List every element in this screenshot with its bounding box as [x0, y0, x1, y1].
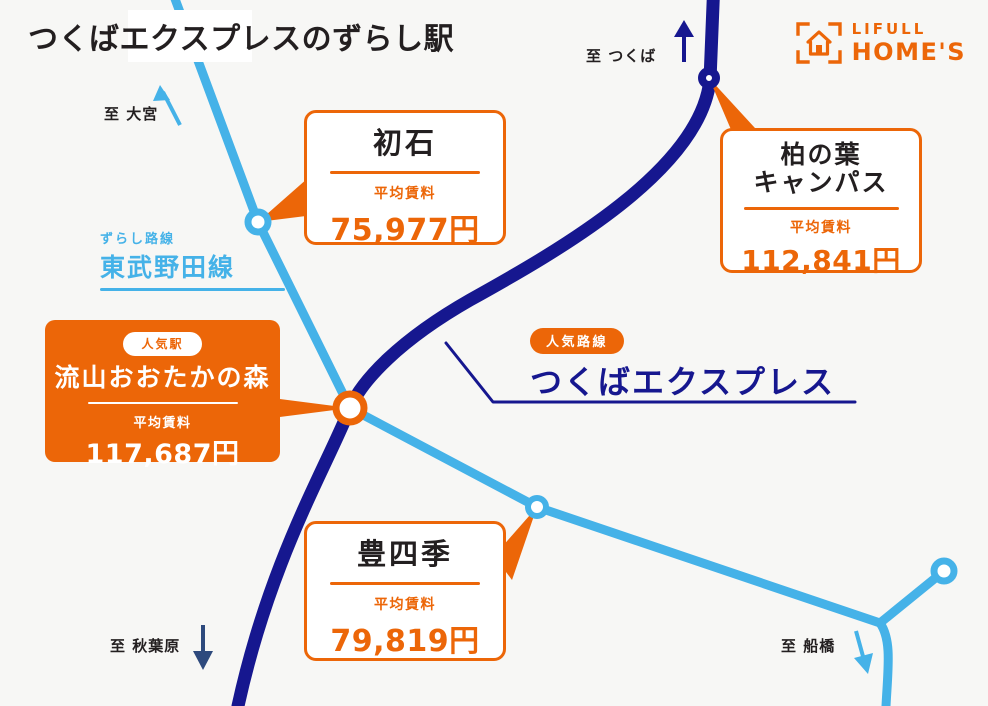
line-name-tobu: 東武野田線	[100, 248, 290, 284]
station-node-kashiwanoha[interactable]	[702, 71, 716, 85]
brand-line-1: LIFULL	[852, 22, 966, 37]
card-divider	[88, 402, 238, 404]
rent-label-nagareyama: 平均賃料	[45, 412, 280, 431]
line-name-tx: つくばエクスプレス	[530, 357, 835, 403]
station-badge-popular: 人気駅	[123, 332, 201, 356]
arrow-up-icon	[674, 20, 694, 62]
direction-label-akihabara: 至 秋葉原	[110, 635, 180, 656]
card-divider	[330, 171, 480, 174]
page-title: つくばエクスプレスのずらし駅	[28, 18, 454, 62]
direction-label-tsukuba: 至 つくば	[586, 45, 656, 66]
page-title-wrap: つくばエクスプレスのずらし駅	[28, 18, 454, 62]
rent-value-hatsuishi: 75,977円	[307, 205, 503, 249]
rent-label-kashiwanoha: 平均賃料	[723, 217, 919, 237]
card-divider	[744, 207, 899, 210]
rent-value-nagareyama: 117,687円	[45, 432, 280, 471]
station-node-nagareyama[interactable]	[336, 394, 364, 422]
station-card-toyoshiki[interactable]: 豊四季 平均賃料 79,819円	[304, 521, 506, 661]
arrow-down-icon-funabashi	[854, 631, 873, 674]
station-node-toyoshiki[interactable]	[528, 498, 546, 516]
tobu-noda-line-path	[168, 0, 944, 623]
station-card-nagareyama[interactable]: 人気駅 流山おおたかの森 平均賃料 117,687円	[45, 320, 280, 462]
brand-line-2: HOME'S	[852, 40, 966, 64]
line-label-tobu-noda: ずらし路線 東武野田線	[100, 228, 290, 291]
line-label-tsukuba-express: 人気路線 つくばエクスプレス	[530, 328, 835, 403]
rent-value-toyoshiki: 79,819円	[307, 616, 503, 660]
rent-label-toyoshiki: 平均賃料	[307, 594, 503, 614]
brand-logo[interactable]: LIFULL HOME'S	[796, 22, 966, 64]
station-name-kashiwanoha-line2: キャンパス	[723, 169, 919, 197]
line-kicker-tobu: ずらし路線	[100, 228, 290, 247]
rent-label-hatsuishi: 平均賃料	[307, 183, 503, 203]
brand-logo-text: LIFULL HOME'S	[852, 22, 966, 64]
station-node-terminal-east[interactable]	[934, 561, 954, 581]
station-name-toyoshiki: 豊四季	[307, 538, 503, 570]
tobu-noda-branch-funabashi	[880, 623, 888, 706]
line-underline-tobu	[100, 288, 285, 291]
rent-value-kashiwanoha: 112,841円	[723, 239, 919, 279]
direction-label-omiya: 至 大宮	[104, 103, 158, 124]
station-name-hatsuishi: 初石	[307, 127, 503, 159]
house-bracket-icon	[796, 22, 842, 64]
station-name-kashiwanoha-line1: 柏の葉	[723, 141, 919, 169]
arrow-down-icon-akihabara	[193, 625, 213, 670]
direction-label-funabashi: 至 船橋	[781, 635, 835, 656]
station-card-kashiwanoha[interactable]: 柏の葉 キャンパス 平均賃料 112,841円	[720, 128, 922, 273]
infographic-root: つくばエクスプレスのずらし駅 LIFULL HOME'S 至 大宮 至 つくば …	[0, 0, 988, 706]
station-name-nagareyama: 流山おおたかの森	[45, 364, 280, 392]
station-card-hatsuishi[interactable]: 初石 平均賃料 75,977円	[304, 110, 506, 245]
card-divider	[330, 582, 480, 585]
line-kicker-tx: 人気路線	[530, 328, 624, 354]
